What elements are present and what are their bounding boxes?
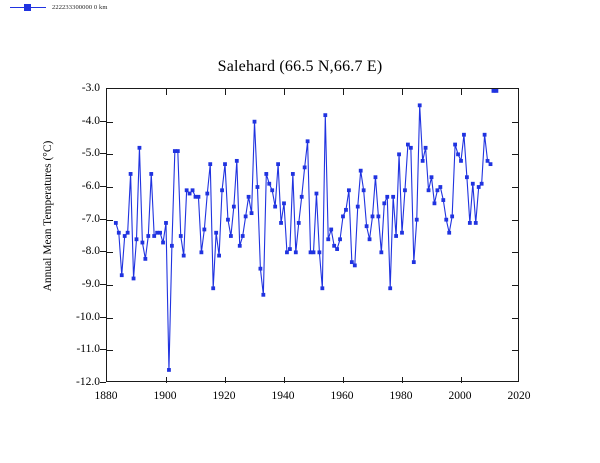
series-data-point xyxy=(149,172,153,176)
chart-figure: Salehard (66.5 N,66.7 E) Annual Mean Tem… xyxy=(0,0,600,463)
series-data-point xyxy=(256,185,260,189)
x-axis-tick-label: 1960 xyxy=(312,390,372,402)
y-axis-tick-label: -4.0 xyxy=(56,115,100,127)
series-data-point xyxy=(385,195,389,199)
series-data-point xyxy=(344,208,348,212)
series-data-point xyxy=(200,250,204,254)
series-data-point xyxy=(264,172,268,176)
series-data-point xyxy=(480,182,484,186)
series-data-point xyxy=(146,234,150,238)
x-axis-inner-tick-top xyxy=(343,89,344,95)
x-axis-tick-label: 1880 xyxy=(76,390,136,402)
y-axis-tick-label: -8.0 xyxy=(56,245,100,257)
y-axis-tick-labels: -3.0-4.0-5.0-6.0-7.0-8.0-9.0-10.0-11.0-1… xyxy=(54,88,100,382)
series-data-point xyxy=(403,188,407,192)
series-data-point xyxy=(197,195,201,199)
series-data-point xyxy=(341,215,345,219)
x-axis-tick-labels: 18801900192019401960198020002020 xyxy=(106,382,519,408)
series-data-point xyxy=(253,120,257,124)
series-data-point xyxy=(202,228,206,232)
series-data-point xyxy=(415,218,419,222)
series-data-point xyxy=(288,247,292,251)
y-axis-inner-tick-left xyxy=(107,122,113,123)
series-data-point xyxy=(329,228,333,232)
series-data-point xyxy=(282,201,286,205)
series-data-point xyxy=(226,218,230,222)
x-axis-tick-label: 1900 xyxy=(135,390,195,402)
series-data-point xyxy=(474,221,478,225)
series-data-point xyxy=(303,166,307,170)
series-data-point xyxy=(397,152,401,156)
series-data-point xyxy=(365,224,369,228)
series-data-point xyxy=(261,293,265,297)
series-data-point xyxy=(291,172,295,176)
series-data-point xyxy=(441,198,445,202)
series-data-point xyxy=(152,234,156,238)
series-data-point xyxy=(250,211,254,215)
series-data-point xyxy=(438,185,442,189)
y-axis-inner-tick-left xyxy=(107,318,113,319)
x-axis-inner-tick-top xyxy=(461,89,462,95)
series-data-point xyxy=(297,221,301,225)
series-data-point xyxy=(456,152,460,156)
series-data-point xyxy=(208,162,212,166)
series-data-point xyxy=(486,159,490,163)
y-axis-inner-tick-right xyxy=(512,318,518,319)
series-line xyxy=(116,105,491,370)
y-axis-inner-tick-right xyxy=(512,154,518,155)
series-data-point xyxy=(223,162,227,166)
plot-area xyxy=(106,88,519,382)
series-data-point xyxy=(244,215,248,219)
chart-title: Salehard (66.5 N,66.7 E) xyxy=(0,58,600,76)
y-axis-tick-label: -12.0 xyxy=(56,376,100,388)
series-data-point xyxy=(444,218,448,222)
series-data-point xyxy=(356,205,360,209)
series-data-point xyxy=(185,188,189,192)
series-data-point xyxy=(241,234,245,238)
x-axis-tick-label: 2000 xyxy=(430,390,490,402)
series-data-point xyxy=(167,368,171,372)
series-data-point xyxy=(294,250,298,254)
series-data-point xyxy=(123,234,127,238)
y-axis-inner-tick-right xyxy=(512,187,518,188)
x-axis-tick-label: 1940 xyxy=(253,390,313,402)
series-data-point xyxy=(179,234,183,238)
series-data-point xyxy=(138,146,142,150)
series-data-point xyxy=(374,175,378,179)
y-axis-label: Annual Mean Temperatures (°C) xyxy=(42,66,54,366)
y-axis-inner-tick-right xyxy=(512,285,518,286)
y-axis-tick-label: -10.0 xyxy=(56,311,100,323)
series-data-point xyxy=(465,175,469,179)
y-axis-tick-label: -3.0 xyxy=(56,82,100,94)
series-data-point xyxy=(436,188,440,192)
series-data-point xyxy=(270,188,274,192)
series-data-point xyxy=(141,241,145,245)
x-axis-inner-tick-top xyxy=(402,89,403,95)
series-data-point xyxy=(347,188,351,192)
series-data-point xyxy=(489,162,493,166)
series-data-point xyxy=(211,286,215,290)
series-data-point xyxy=(406,143,410,147)
x-axis-inner-tick-top xyxy=(225,89,226,95)
x-axis-inner-tick-top xyxy=(166,89,167,95)
series-data-point xyxy=(350,260,354,264)
y-axis-inner-tick-left xyxy=(107,252,113,253)
series-data-point xyxy=(220,188,224,192)
y-axis-inner-tick-left xyxy=(107,187,113,188)
series-data-point xyxy=(247,195,251,199)
series-data-point xyxy=(362,188,366,192)
series-data-point xyxy=(267,182,271,186)
series-data-point xyxy=(120,273,124,277)
series-data-point xyxy=(273,205,277,209)
series-data-point xyxy=(232,205,236,209)
series-data-point xyxy=(170,244,174,248)
series-data-point xyxy=(312,250,316,254)
series-data-point xyxy=(338,237,342,241)
y-axis-tick-label: -5.0 xyxy=(56,147,100,159)
series-data-point xyxy=(382,201,386,205)
series-data-point xyxy=(424,146,428,150)
series-data-point xyxy=(323,113,327,117)
series-data-point xyxy=(447,231,451,235)
series-data-point xyxy=(468,221,472,225)
x-axis-tick-label: 1920 xyxy=(194,390,254,402)
series-data-point xyxy=(191,188,195,192)
series-data-point xyxy=(259,267,263,271)
series-data-point xyxy=(164,221,168,225)
series-data-point xyxy=(368,237,372,241)
y-axis-tick-label: -7.0 xyxy=(56,213,100,225)
y-axis-tick-label: -11.0 xyxy=(56,343,100,355)
series-data-point xyxy=(453,143,457,147)
series-data-point xyxy=(391,195,395,199)
series-data-point xyxy=(359,169,363,173)
series-data-point xyxy=(388,286,392,290)
y-axis-inner-tick-left xyxy=(107,285,113,286)
series-data-point xyxy=(377,215,381,219)
series-data-point xyxy=(182,254,186,258)
x-axis-inner-tick-top xyxy=(284,89,285,95)
series-data-point xyxy=(158,231,162,235)
series-data-point xyxy=(205,192,209,196)
series-data-point xyxy=(483,133,487,137)
series-data-point xyxy=(412,260,416,264)
chart-legend[interactable]: 222233300000 0 km xyxy=(8,2,110,12)
series-data-point xyxy=(238,244,242,248)
series-data-point xyxy=(117,231,121,235)
y-axis-inner-tick-right xyxy=(512,220,518,221)
x-axis-tick-label: 1980 xyxy=(371,390,431,402)
series-data-point xyxy=(379,250,383,254)
series-data-point xyxy=(400,231,404,235)
series-data-point xyxy=(176,149,180,153)
y-axis-inner-tick-left xyxy=(107,350,113,351)
series-data-point xyxy=(394,234,398,238)
series-data-point xyxy=(235,159,239,163)
y-axis-tick-label: -9.0 xyxy=(56,278,100,290)
series-data-point xyxy=(462,133,466,137)
y-axis-inner-tick-right xyxy=(512,122,518,123)
series-data-point xyxy=(300,195,304,199)
series-data-point xyxy=(214,231,218,235)
series-data-point xyxy=(332,244,336,248)
series-data-point xyxy=(229,234,233,238)
series-data-point xyxy=(132,277,136,281)
series-data-point xyxy=(477,185,481,189)
series-data-point xyxy=(217,254,221,258)
y-axis-inner-tick-right xyxy=(512,252,518,253)
series-data-point xyxy=(306,139,310,143)
series-data-point xyxy=(427,188,431,192)
series-data-point xyxy=(335,247,339,251)
data-series-svg xyxy=(107,89,520,383)
series-data-point xyxy=(318,250,322,254)
series-data-point xyxy=(450,215,454,219)
series-data-point xyxy=(421,159,425,163)
series-data-point xyxy=(326,237,330,241)
series-data-point xyxy=(371,215,375,219)
series-data-point xyxy=(279,221,283,225)
series-data-point xyxy=(459,159,463,163)
series-data-point xyxy=(285,250,289,254)
legend-square-marker-icon xyxy=(24,4,31,11)
y-axis-tick-label: -6.0 xyxy=(56,180,100,192)
series-data-point xyxy=(430,175,434,179)
series-data-point xyxy=(126,231,130,235)
series-data-point xyxy=(495,89,499,93)
y-axis-inner-tick-left xyxy=(107,220,113,221)
series-data-point xyxy=(114,221,118,225)
series-data-point xyxy=(409,146,413,150)
series-data-point xyxy=(161,241,165,245)
y-axis-inner-tick-left xyxy=(107,154,113,155)
legend-line-swatch xyxy=(10,2,46,12)
series-data-point xyxy=(129,172,133,176)
series-data-point xyxy=(433,201,437,205)
series-data-point xyxy=(471,182,475,186)
legend-entry-label: 222233300000 0 km xyxy=(52,4,108,11)
series-data-point xyxy=(353,264,357,268)
x-axis-tick-label: 2020 xyxy=(489,390,549,402)
series-data-point xyxy=(135,237,139,241)
series-data-point xyxy=(315,192,319,196)
series-data-point xyxy=(418,103,422,107)
series-data-point xyxy=(320,286,324,290)
series-data-point xyxy=(143,257,147,261)
series-data-point xyxy=(276,162,280,166)
series-data-point xyxy=(188,192,192,196)
y-axis-inner-tick-right xyxy=(512,350,518,351)
